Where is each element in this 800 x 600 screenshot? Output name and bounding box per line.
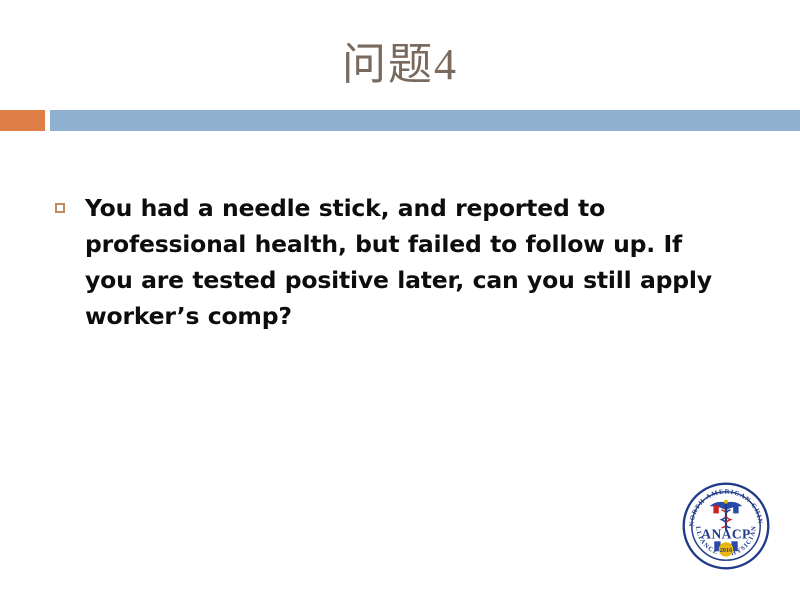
anacp-seal-logo: OF NORTH AMERICAN CHINESE ALLIANCE · PHY… [681,481,771,571]
list-item: You had a needle stick, and reported to … [55,190,715,334]
bullet-item-label: You had a needle stick, and reported to … [85,190,715,334]
svg-text:ANACP: ANACP [701,527,751,542]
divider-accent-bar [0,110,45,131]
square-bullet-icon [55,203,65,213]
slide-canvas: 问题4 You had a needle stick, and reported… [0,0,800,600]
divider-main-bar [50,110,800,131]
slide-body: You had a needle stick, and reported to … [55,190,715,334]
slide-title-area: 问题4 [0,30,800,100]
svg-text:2016: 2016 [720,547,733,554]
title-divider [0,110,800,131]
page-title: 问题4 [342,43,458,87]
